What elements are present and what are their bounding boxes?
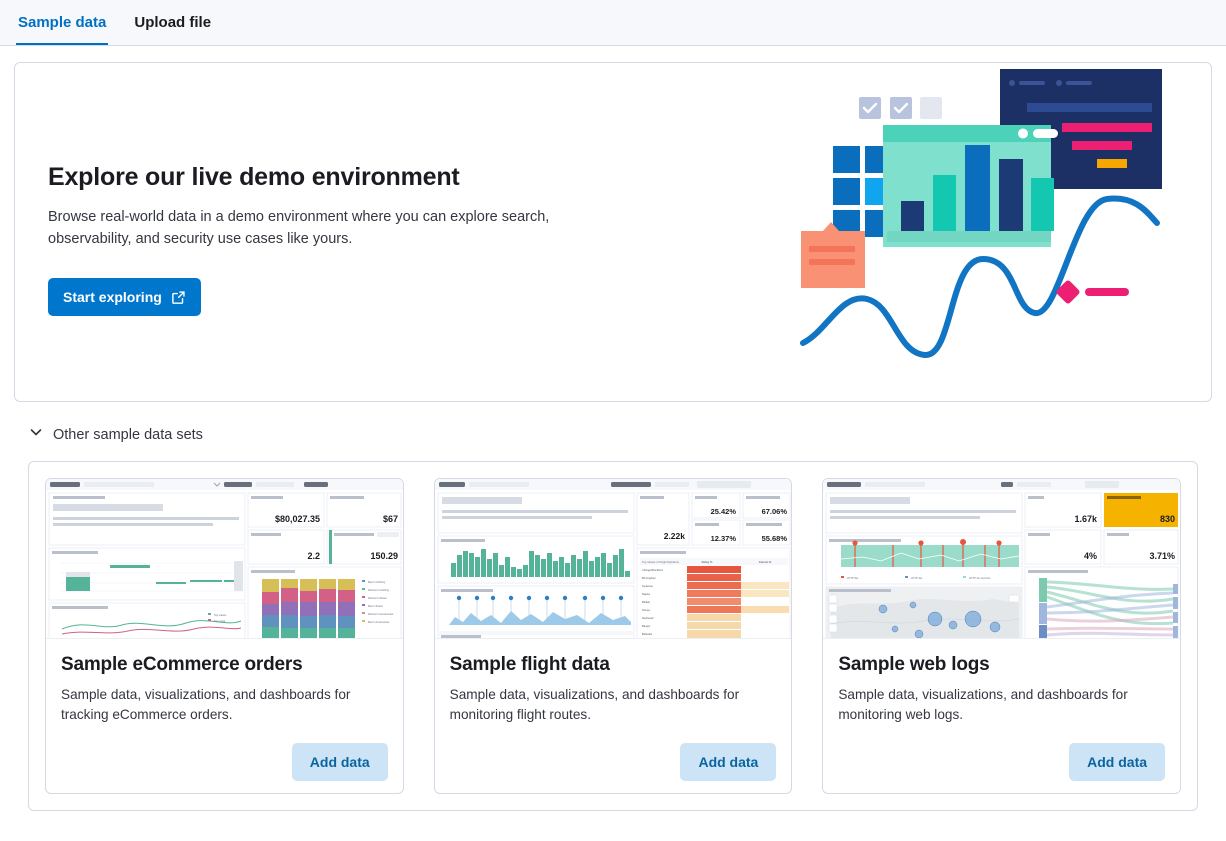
tab-upload-file-label: Upload file [134, 14, 211, 31]
svg-text:Naples: Naples [642, 592, 651, 596]
svg-text:Sum total: Sum total [214, 619, 225, 623]
svg-text:Cancel %: Cancel % [758, 560, 771, 564]
svg-text:HTTP 5xx: HTTP 5xx [847, 576, 859, 580]
svg-text:2.22k: 2.22k [663, 531, 685, 541]
svg-text:Chicago/Rockford: Chicago/Rockford [642, 568, 663, 572]
accordion-label: Other sample data sets [53, 427, 203, 443]
svg-text:Bangor: Bangor [642, 624, 651, 628]
svg-text:Belfast: Belfast [642, 600, 650, 604]
card-description: Sample data, visualizations, and dashboa… [838, 685, 1165, 725]
sample-data-cards-panel: $80,027.35 $67 2.2 150.29 [28, 461, 1198, 811]
pink-marker [1055, 279, 1129, 304]
demo-environment-panel: Explore our live demo environment Browse… [14, 62, 1212, 402]
card-body: Sample web logs Sample data, visualizati… [823, 639, 1180, 793]
card-footer: Add data [838, 743, 1165, 781]
svg-text:Men's Shoes: Men's Shoes [368, 604, 384, 608]
card-title: Sample web logs [838, 654, 1165, 676]
svg-text:2.2: 2.2 [307, 551, 320, 561]
svg-text:67.06%: 67.06% [761, 507, 787, 516]
svg-text:Women's Accessories: Women's Accessories [368, 612, 394, 616]
svg-text:Men's Accessories: Men's Accessories [368, 620, 390, 624]
page-content: Explore our live demo environment Browse… [0, 46, 1226, 811]
chart-window [883, 125, 1058, 247]
card-description: Sample data, visualizations, and dashboa… [450, 685, 777, 725]
svg-text:25.42%: 25.42% [710, 507, 736, 516]
hero-text-block: Explore our live demo environment Browse… [48, 163, 608, 316]
card-body: Sample flight data Sample data, visualiz… [435, 639, 792, 793]
hero-subtitle: Browse real-world data in a demo environ… [48, 206, 568, 250]
start-exploring-label: Start exploring [63, 289, 162, 305]
tab-sample-data[interactable]: Sample data [16, 0, 108, 45]
tab-sample-data-label: Sample data [18, 14, 106, 31]
tab-bar: Sample data Upload file [0, 0, 1226, 46]
svg-text:Syracuse: Syracuse [642, 584, 653, 588]
svg-text:Rochester: Rochester [642, 616, 654, 620]
page-title: Explore our live demo environment [48, 163, 608, 192]
svg-text:$67: $67 [383, 514, 398, 524]
external-link-icon [171, 290, 186, 305]
tab-upload-file[interactable]: Upload file [132, 0, 213, 45]
tooltip-card [801, 222, 865, 288]
card-footer: Add data [61, 743, 388, 781]
flight-dashboard-thumbnail: 2.22k 25.42% 67.06% 12.37% 55.68% [435, 479, 792, 639]
svg-text:Delay %: Delay % [701, 560, 712, 564]
card-description: Sample data, visualizations, and dashboa… [61, 685, 388, 725]
svg-text:Women's Clothing: Women's Clothing [368, 588, 389, 592]
card-body: Sample eCommerce orders Sample data, vis… [46, 639, 403, 793]
chevron-down-icon [28, 424, 44, 445]
sample-data-card-ecommerce[interactable]: $80,027.35 $67 2.2 150.29 [45, 478, 404, 794]
sample-data-card-weblogs[interactable]: 1.67k 830 4% 3.71% [822, 478, 1181, 794]
add-data-button-flight[interactable]: Add data [680, 743, 776, 781]
svg-text:1.67k: 1.67k [1075, 514, 1099, 524]
card-title: Sample flight data [450, 654, 777, 676]
add-data-button-ecommerce[interactable]: Add data [292, 743, 388, 781]
add-data-button-weblogs[interactable]: Add data [1069, 743, 1165, 781]
svg-text:Birmingham: Birmingham [642, 576, 656, 580]
svg-text:4%: 4% [1084, 551, 1097, 561]
sample-data-card-flight[interactable]: 2.22k 25.42% 67.06% 12.37% 55.68% [434, 478, 793, 794]
svg-text:830: 830 [1160, 514, 1175, 524]
checkbox-icons [859, 97, 942, 119]
other-sample-data-sets-accordion[interactable]: Other sample data sets [14, 402, 1212, 461]
svg-text:HTTP 4xx: HTTP 4xx [911, 576, 923, 580]
start-exploring-button[interactable]: Start exploring [48, 278, 201, 316]
svg-text:3.71%: 3.71% [1150, 551, 1176, 561]
svg-text:$80,027.35: $80,027.35 [275, 514, 320, 524]
card-title: Sample eCommerce orders [61, 654, 388, 676]
svg-text:Belleville: Belleville [642, 632, 653, 636]
svg-text:150.29: 150.29 [370, 551, 398, 561]
svg-text:Men's Clothing: Men's Clothing [368, 580, 386, 584]
ecommerce-dashboard-thumbnail: $80,027.35 $67 2.2 150.29 [46, 479, 403, 639]
svg-text:12.37%: 12.37% [710, 534, 736, 543]
svg-text:55.68%: 55.68% [761, 534, 787, 543]
card-footer: Add data [450, 743, 777, 781]
svg-text:Women's Shoes: Women's Shoes [368, 596, 387, 600]
svg-text:HTTP 2xx and 3xx: HTTP 2xx and 3xx [969, 576, 991, 580]
svg-text:Tampa: Tampa [642, 608, 650, 612]
data-dashboard-illustration [797, 63, 1197, 402]
svg-text:Top values of OriginCityName: Top values of OriginCityName [642, 560, 679, 564]
weblogs-dashboard-thumbnail: 1.67k 830 4% 3.71% [823, 479, 1180, 639]
svg-text:Top values: Top values [214, 613, 227, 617]
